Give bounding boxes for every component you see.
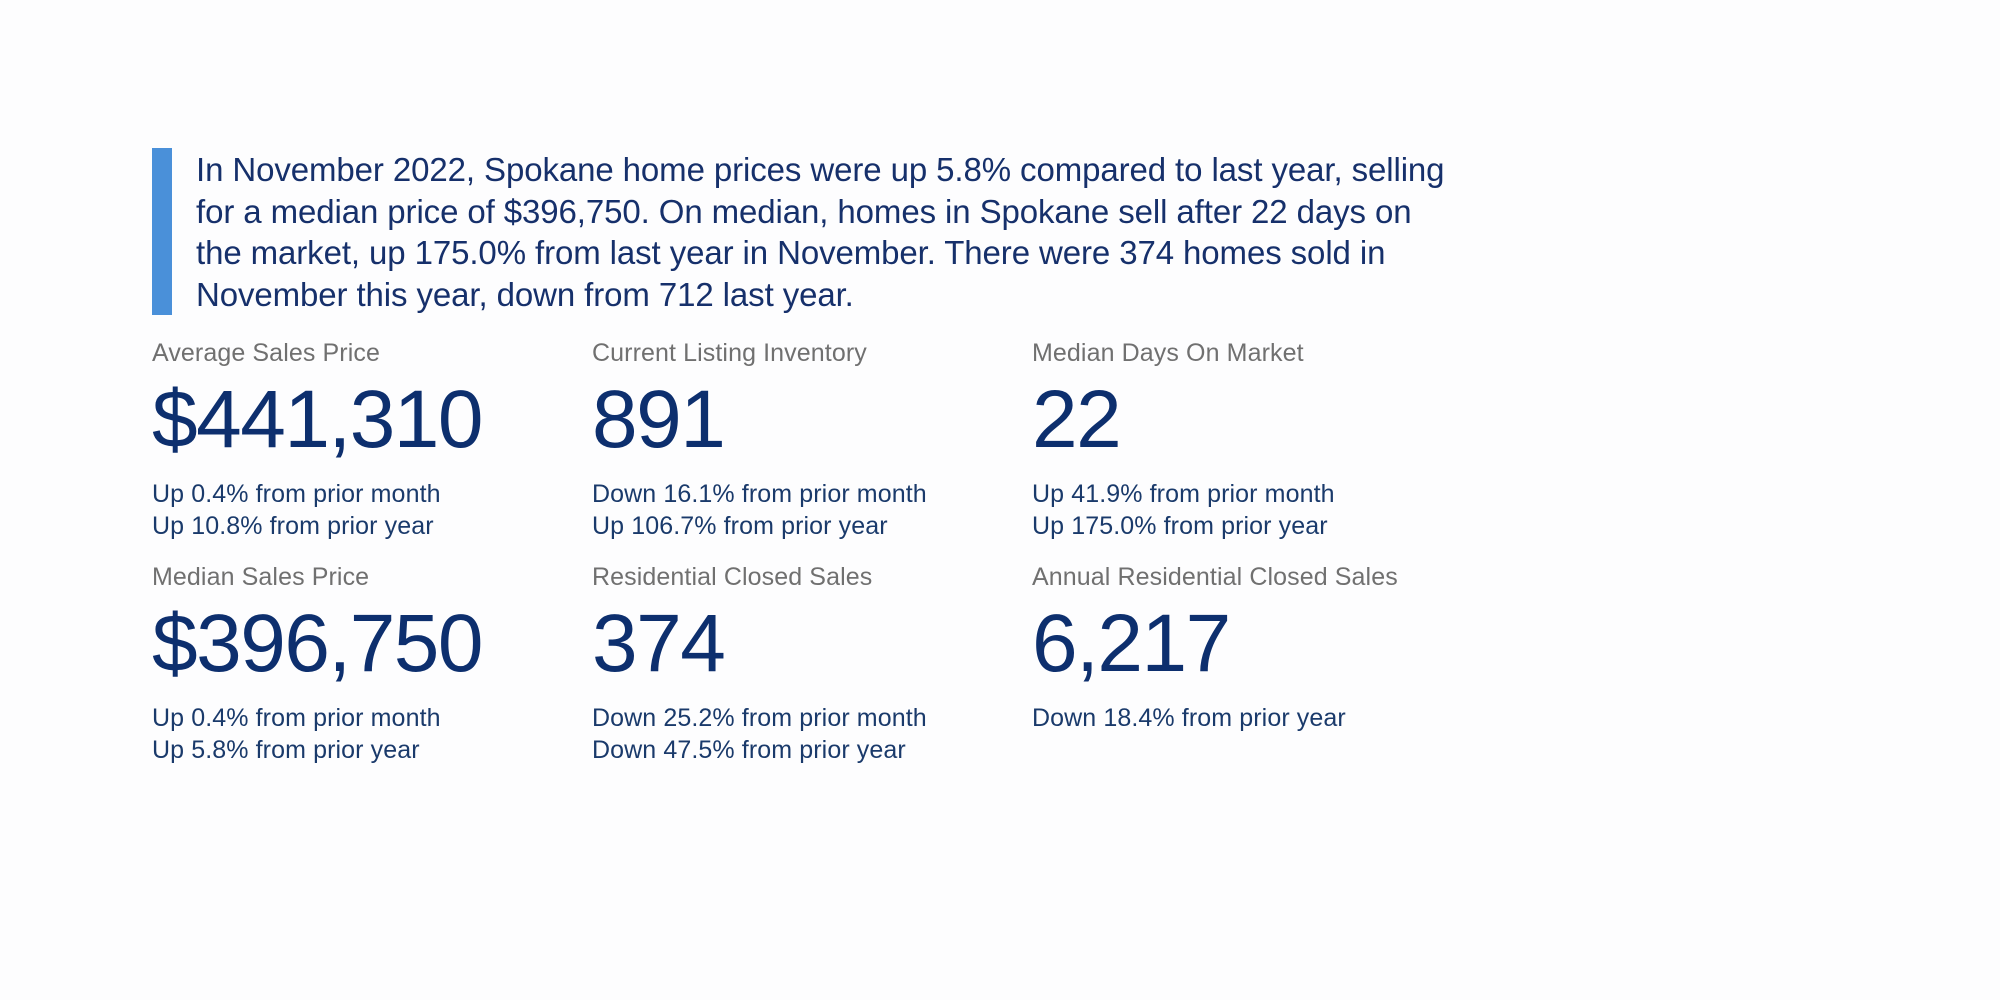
stat-note-month: Down 16.1% from prior month <box>592 478 1032 510</box>
stat-row: Median Sales Price $396,750 Up 0.4% from… <box>152 562 1461 786</box>
stat-card-median-days-on-market: Median Days On Market 22 Up 41.9% from p… <box>1032 338 1461 562</box>
stat-grid: Average Sales Price $441,310 Up 0.4% fro… <box>152 338 1461 786</box>
market-summary-callout: In November 2022, Spokane home prices we… <box>152 148 1461 315</box>
stat-note-year: Down 18.4% from prior year <box>1032 702 1461 734</box>
stat-label: Median Sales Price <box>152 562 592 592</box>
stat-label: Residential Closed Sales <box>592 562 1032 592</box>
stat-note-year: Up 106.7% from prior year <box>592 510 1032 542</box>
stat-value: $441,310 <box>152 374 592 466</box>
stat-note-year: Down 47.5% from prior year <box>592 734 1032 766</box>
market-summary-text: In November 2022, Spokane home prices we… <box>196 148 1461 315</box>
stat-note-month: Down 25.2% from prior month <box>592 702 1032 734</box>
stat-value: 374 <box>592 598 1032 690</box>
stat-note-year: Up 10.8% from prior year <box>152 510 592 542</box>
stat-card-annual-residential-closed-sales: Annual Residential Closed Sales 6,217 Do… <box>1032 562 1461 786</box>
stat-label: Annual Residential Closed Sales <box>1032 562 1461 592</box>
stat-notes: Up 0.4% from prior month Up 5.8% from pr… <box>152 702 592 766</box>
stat-value: 22 <box>1032 374 1461 466</box>
stat-card-residential-closed-sales: Residential Closed Sales 374 Down 25.2% … <box>592 562 1032 786</box>
stat-label: Current Listing Inventory <box>592 338 1032 368</box>
stat-card-average-sales-price: Average Sales Price $441,310 Up 0.4% fro… <box>152 338 592 562</box>
stat-label: Average Sales Price <box>152 338 592 368</box>
stat-note-year: Up 175.0% from prior year <box>1032 510 1461 542</box>
stat-notes: Down 25.2% from prior month Down 47.5% f… <box>592 702 1032 766</box>
stat-card-median-sales-price: Median Sales Price $396,750 Up 0.4% from… <box>152 562 592 786</box>
stat-notes: Down 18.4% from prior year <box>1032 702 1461 734</box>
stat-value: 6,217 <box>1032 598 1461 690</box>
stat-notes: Up 41.9% from prior month Up 175.0% from… <box>1032 478 1461 542</box>
stat-note-year: Up 5.8% from prior year <box>152 734 592 766</box>
stat-row: Average Sales Price $441,310 Up 0.4% fro… <box>152 338 1461 562</box>
stat-value: 891 <box>592 374 1032 466</box>
stat-label: Median Days On Market <box>1032 338 1461 368</box>
stat-note-month: Up 0.4% from prior month <box>152 478 592 510</box>
stat-notes: Down 16.1% from prior month Up 106.7% fr… <box>592 478 1032 542</box>
stat-value: $396,750 <box>152 598 592 690</box>
stat-note-month: Up 41.9% from prior month <box>1032 478 1461 510</box>
stat-note-month: Up 0.4% from prior month <box>152 702 592 734</box>
stat-card-current-listing-inventory: Current Listing Inventory 891 Down 16.1%… <box>592 338 1032 562</box>
accent-bar <box>152 148 172 315</box>
market-stats-report: In November 2022, Spokane home prices we… <box>152 0 1461 1000</box>
stat-notes: Up 0.4% from prior month Up 10.8% from p… <box>152 478 592 542</box>
